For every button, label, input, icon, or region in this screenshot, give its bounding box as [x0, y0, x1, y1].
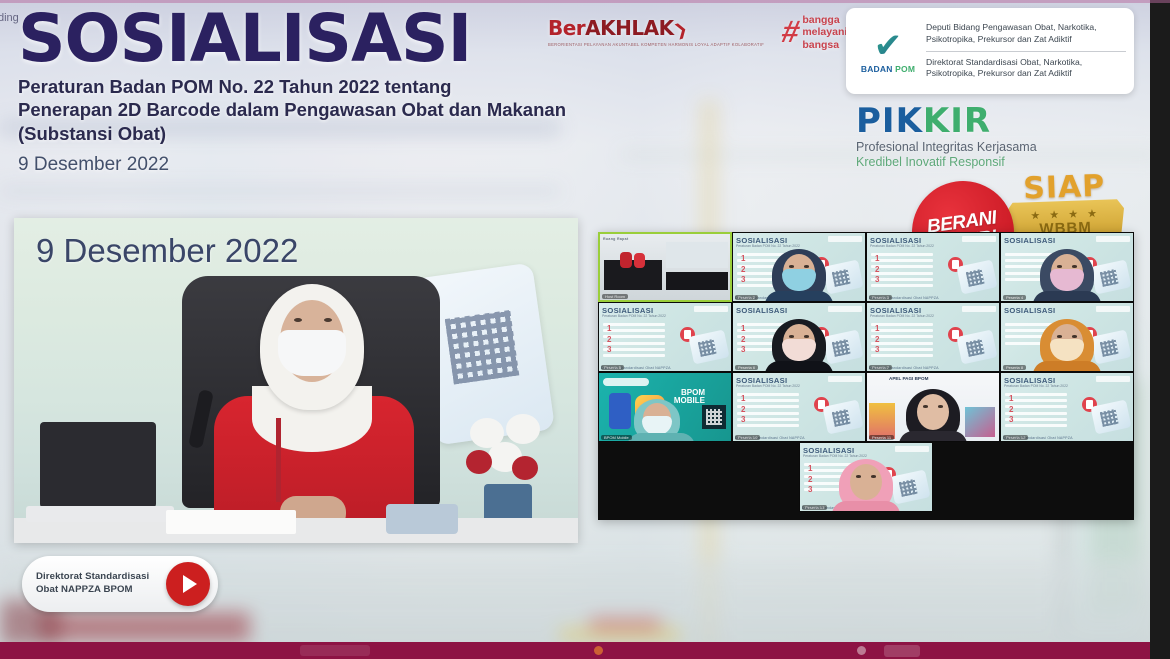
participant-webcam-figure — [1040, 249, 1094, 301]
slide-header-bar — [694, 306, 728, 312]
player-indicator-icon[interactable] — [594, 646, 603, 655]
participant-name-badge: Peserta 8 — [1003, 365, 1026, 370]
participant-tile-10[interactable]: SOSIALISASI Peraturan Badan POM No. 22 T… — [732, 372, 866, 442]
right-edge-bar — [1150, 0, 1170, 659]
youtube-play-icon[interactable] — [166, 562, 210, 606]
player-control-bar[interactable] — [0, 642, 1170, 659]
flower-arrangement — [466, 414, 558, 492]
slide-header-bar — [962, 306, 996, 312]
grid-row: SOSIALISASI Peraturan Badan POM No. 22 T… — [598, 442, 1134, 512]
headline-subtitle-line-3: (Substansi Obat) — [18, 122, 566, 145]
slide-numbers: 123 — [741, 394, 745, 426]
bangga-melayani-bangsa-logo: # bangga melayani bangsa — [782, 14, 847, 51]
eye — [789, 335, 794, 338]
participant-grid[interactable]: Ruang Rapat Host Room SOSIALISASI Peratu… — [598, 232, 1134, 520]
participant-tile-8[interactable]: SOSIALISASI Peserta 8 — [1000, 302, 1134, 372]
shoulders — [1033, 361, 1101, 372]
qr-code-icon — [702, 405, 726, 429]
slide-title: SOSIALISASI — [1004, 306, 1055, 315]
participant-tile-6[interactable]: SOSIALISASI 123 Peserta 6 — [732, 302, 866, 372]
hashtag-icon: # — [779, 20, 802, 45]
room-caption: Ruang Rapat — [603, 237, 628, 241]
participant-name-badge: Peserta 7 — [869, 365, 892, 370]
participant-name-badge: Peserta 6 — [735, 365, 758, 370]
device-graphic — [1090, 330, 1131, 365]
shoulders — [765, 291, 833, 302]
eye — [871, 475, 876, 478]
participant-name-badge: Peserta 13 — [802, 505, 827, 510]
player-button-chip[interactable] — [884, 645, 920, 657]
participant-tile-9[interactable]: BPOM MOBILE BPOM Mobile — [598, 372, 732, 442]
slide-title: SOSIALISASI — [1004, 236, 1055, 245]
room-table — [604, 260, 662, 290]
eye — [938, 405, 943, 408]
slide-header-bar — [1096, 306, 1130, 312]
device-graphic — [822, 400, 863, 435]
participant-tile-13[interactable]: SOSIALISASI Peraturan Badan POM No. 22 T… — [799, 442, 933, 512]
shoulders — [1033, 291, 1101, 302]
white-flower — [506, 414, 540, 444]
grid-row: BPOM MOBILE BPOM Mobile SOSIALISASI Pera… — [598, 372, 1134, 442]
room-person — [634, 253, 645, 268]
background-shelf — [0, 186, 560, 196]
slide-subtitle: Peraturan Badan POM No. 22 Tahun 2022 — [803, 454, 867, 458]
participant-webcam-figure — [906, 389, 960, 441]
bangga-wordmark: bangga melayani bangsa — [802, 14, 847, 51]
background-red-sign — [590, 618, 660, 630]
tablet-on-desk — [386, 504, 458, 534]
top-edge-line — [0, 0, 1170, 3]
face — [917, 394, 949, 430]
device-graphic — [956, 330, 997, 365]
slide-bullet-lines — [1005, 393, 1067, 430]
berakhlak-logo: BerAKHLAK❯ BERORIENTASI PELAYANAN AKUNTA… — [548, 16, 764, 48]
main-speaker-video[interactable]: 9 Desember 2022 — [14, 218, 578, 543]
shoulders — [899, 431, 967, 442]
bpom-name-badan: BADAN — [861, 64, 893, 74]
device-graphic — [688, 330, 729, 365]
participant-tile-7[interactable]: SOSIALISASI Peraturan Badan POM No. 22 T… — [866, 302, 1000, 372]
participant-name-badge: Host Room — [602, 294, 628, 299]
face — [850, 464, 882, 500]
bpom-deputi-line: Deputi Bidang Pengawasan Obat, Narkotika… — [926, 22, 1126, 45]
participant-webcam-figure — [839, 459, 893, 511]
participant-webcam-figure — [772, 319, 826, 371]
participant-name-badge: Peserta 3 — [869, 295, 892, 300]
bpom-name-pom: POM — [895, 64, 915, 74]
slide-subtitle: Peraturan Badan POM No. 22 Tahun 2022 — [736, 384, 800, 388]
berakhlak-prefix: Ber — [548, 16, 585, 40]
participant-name-badge: Peserta 2 — [735, 295, 758, 300]
laptop-screen — [40, 422, 156, 508]
poster-title: APEL PAGI BPOM — [889, 376, 928, 381]
poster-graphic — [869, 403, 895, 439]
speaker-eye — [324, 318, 332, 322]
bpom-check-icon: ✔ — [854, 29, 922, 63]
device-graphic — [822, 260, 863, 295]
participant-name-badge: Peserta 5 — [601, 365, 624, 370]
room-shadow — [666, 272, 728, 290]
device-graphic — [822, 330, 863, 365]
slide-header-bar — [1096, 236, 1130, 242]
slide-header-bar — [828, 376, 862, 382]
participant-tile-3[interactable]: SOSIALISASI Peraturan Badan POM No. 22 T… — [866, 232, 1000, 302]
slide-numbers: 123 — [808, 464, 812, 496]
headline-subtitle-line-2: Penerapan 2D Barcode dalam Pengawasan Ob… — [18, 98, 566, 121]
pikkir-part-1: PIK — [856, 101, 923, 141]
eye — [804, 265, 809, 268]
slide-header-bar — [1096, 376, 1130, 382]
slide-numbers: 123 — [875, 324, 879, 356]
slide-subtitle: Peraturan Badan POM No. 22 Tahun 2022 — [1004, 384, 1068, 388]
bangga-line-2: melayani — [802, 26, 847, 38]
promo-pill-label — [603, 378, 649, 386]
headline-subtitle: Peraturan Badan POM No. 22 Tahun 2022 te… — [18, 75, 566, 145]
papers-on-desk — [166, 510, 296, 534]
headline-date: 9 Desember 2022 — [18, 154, 566, 176]
slide-subtitle: Peraturan Badan POM No. 22 Tahun 2022 — [870, 244, 934, 248]
eye — [1072, 335, 1077, 338]
bpom-card-texts: Deputi Bidang Pengawasan Obat, Narkotika… — [922, 22, 1126, 80]
participant-name-badge: Peserta 4 — [1003, 295, 1026, 300]
headline-block: SOSIALISASI Peraturan Badan POM No. 22 T… — [18, 8, 566, 176]
participant-tile-11[interactable]: APEL PAGI BPOM Peserta 11 — [866, 372, 1000, 442]
shoulders — [627, 433, 695, 442]
slide-bullet-lines — [737, 393, 799, 430]
slide-numbers: 123 — [607, 324, 611, 356]
participant-name-badge: Peserta 11 — [869, 435, 894, 440]
background-yellow-sign — [560, 628, 680, 642]
room-person — [620, 252, 632, 268]
speaker-face-mask — [278, 330, 346, 376]
slide-header-bar — [828, 306, 862, 312]
device-graphic — [889, 470, 930, 505]
pikkir-tagline-2: Kredibel Inovatif Responsif — [856, 155, 1037, 169]
poster-graphic — [965, 407, 995, 437]
pikkir-tagline-1: Profesional Integritas Kerjasama — [856, 140, 1037, 154]
headline-subtitle-line-1: Peraturan Badan POM No. 22 Tahun 2022 te… — [18, 75, 566, 98]
participant-tile-12[interactable]: SOSIALISASI Peraturan Badan POM No. 22 T… — [1000, 372, 1134, 442]
bpom-wordmark: BADAN POM — [854, 64, 922, 74]
slide-numbers: 123 — [875, 254, 879, 286]
eye — [1057, 335, 1062, 338]
grid-row: Ruang Rapat Host Room SOSIALISASI Peratu… — [598, 232, 1134, 302]
slide-header-bar — [962, 236, 996, 242]
shared-slide: SOSIALISASI Peraturan Badan POM No. 22 T… — [867, 303, 999, 371]
microphone-stand — [276, 418, 281, 502]
bpom-logo: ✔ BADAN POM — [854, 29, 922, 74]
device-graphic — [1090, 400, 1131, 435]
bpom-direktorat-line: Direktorat Standardisasi Obat, Narkotika… — [926, 57, 1126, 80]
pikkir-wordmark: PIKKIR — [856, 104, 1037, 138]
divider — [926, 51, 1126, 52]
slide-header-bar — [895, 446, 929, 452]
slide-header-bar — [828, 236, 862, 242]
player-progress-chip[interactable] — [300, 645, 370, 656]
eye — [1057, 265, 1062, 268]
shoulders — [765, 361, 833, 372]
participant-webcam-figure — [772, 249, 826, 301]
slide-subtitle: Peraturan Badan POM No. 22 Tahun 2022 — [602, 314, 666, 318]
red-flower — [466, 450, 492, 474]
room-screen — [666, 242, 728, 268]
participant-tile-4[interactable]: SOSIALISASI Peserta 4 — [1000, 232, 1134, 302]
speaker-name-card: Direktorat Standardisasi Obat NAPPZA BPO… — [22, 556, 218, 612]
slide-numbers: 123 — [1009, 394, 1013, 426]
eye — [804, 335, 809, 338]
play-triangle — [183, 575, 197, 593]
participant-tile-2[interactable]: SOSIALISASI Peraturan Badan POM No. 22 T… — [732, 232, 866, 302]
bangga-line-3: bangsa — [802, 39, 847, 51]
room-view: Ruang Rapat — [600, 234, 730, 300]
eye — [1072, 265, 1077, 268]
shared-slide: SOSIALISASI Peraturan Badan POM No. 22 T… — [1001, 373, 1133, 441]
slide-numbers: 123 — [741, 254, 745, 286]
player-indicator-icon[interactable] — [857, 646, 866, 655]
recording-indicator-text: ding — [0, 12, 19, 24]
slide-bullet-lines — [871, 253, 933, 290]
eye — [789, 265, 794, 268]
background-red-counter — [40, 612, 250, 642]
pikkir-part-2: KIR — [923, 101, 991, 141]
eye — [856, 475, 861, 478]
grid-row: SOSIALISASI Peraturan Badan POM No. 22 T… — [598, 302, 1134, 372]
participant-webcam-figure — [634, 399, 680, 441]
slide-numbers: 123 — [741, 324, 745, 356]
page-title: SOSIALISASI — [18, 8, 566, 71]
promo-phone-graphic — [609, 393, 631, 429]
participant-name-badge: Peserta 12 — [1003, 435, 1028, 440]
berakhlak-wordmark: BerAKHLAK❯ — [548, 16, 764, 40]
participant-name-badge: BPOM Mobile — [601, 435, 632, 440]
berakhlak-tagline: BERORIENTASI PELAYANAN AKUNTABEL KOMPETE… — [548, 42, 764, 48]
shared-slide: SOSIALISASI Peraturan Badan POM No. 22 T… — [867, 233, 999, 301]
slide-subtitle: Peraturan Badan POM No. 22 Tahun 2022 — [736, 244, 800, 248]
device-graphic — [1090, 260, 1131, 295]
eye — [923, 405, 928, 408]
shared-slide: SOSIALISASI Peraturan Badan POM No. 22 T… — [733, 373, 865, 441]
laptop-base — [26, 506, 174, 522]
participant-tile-1[interactable]: Ruang Rapat Host Room — [598, 232, 732, 302]
video-stream-stage: ding SOSIALISASI Peraturan Badan POM No.… — [0, 0, 1170, 659]
speaker-eye — [294, 318, 302, 322]
participant-tile-5[interactable]: SOSIALISASI Peraturan Badan POM No. 22 T… — [598, 302, 732, 372]
participant-name-badge: Peserta 10 — [735, 435, 760, 440]
slide-subtitle: Peraturan Badan POM No. 22 Tahun 2022 — [870, 314, 934, 318]
shoulders — [832, 501, 900, 512]
slide-title: SOSIALISASI — [736, 306, 787, 315]
slide-bullet-lines — [603, 323, 665, 360]
red-flower — [512, 456, 538, 480]
speaker-slide-date: 9 Desember 2022 — [36, 232, 298, 270]
shared-slide: SOSIALISASI Peraturan Badan POM No. 22 T… — [599, 303, 731, 371]
bangga-line-1: bangga — [802, 14, 847, 26]
speaker-name-line-1: Direktorat Standardisasi — [36, 571, 166, 584]
berakhlak-suffix: AKHLAK — [585, 16, 673, 40]
device-graphic — [956, 260, 997, 295]
bpom-directorate-card: ✔ BADAN POM Deputi Bidang Pengawasan Oba… — [846, 8, 1134, 94]
pikkir-branding: PIKKIR Profesional Integritas Kerjasama … — [856, 104, 1037, 169]
participant-webcam-figure — [1040, 319, 1094, 371]
slide-bullet-lines — [871, 323, 933, 360]
speaker-name-text: Direktorat Standardisasi Obat NAPPZA BPO… — [36, 571, 166, 597]
speaker-name-line-2: Obat NAPPZA BPOM — [36, 584, 166, 597]
